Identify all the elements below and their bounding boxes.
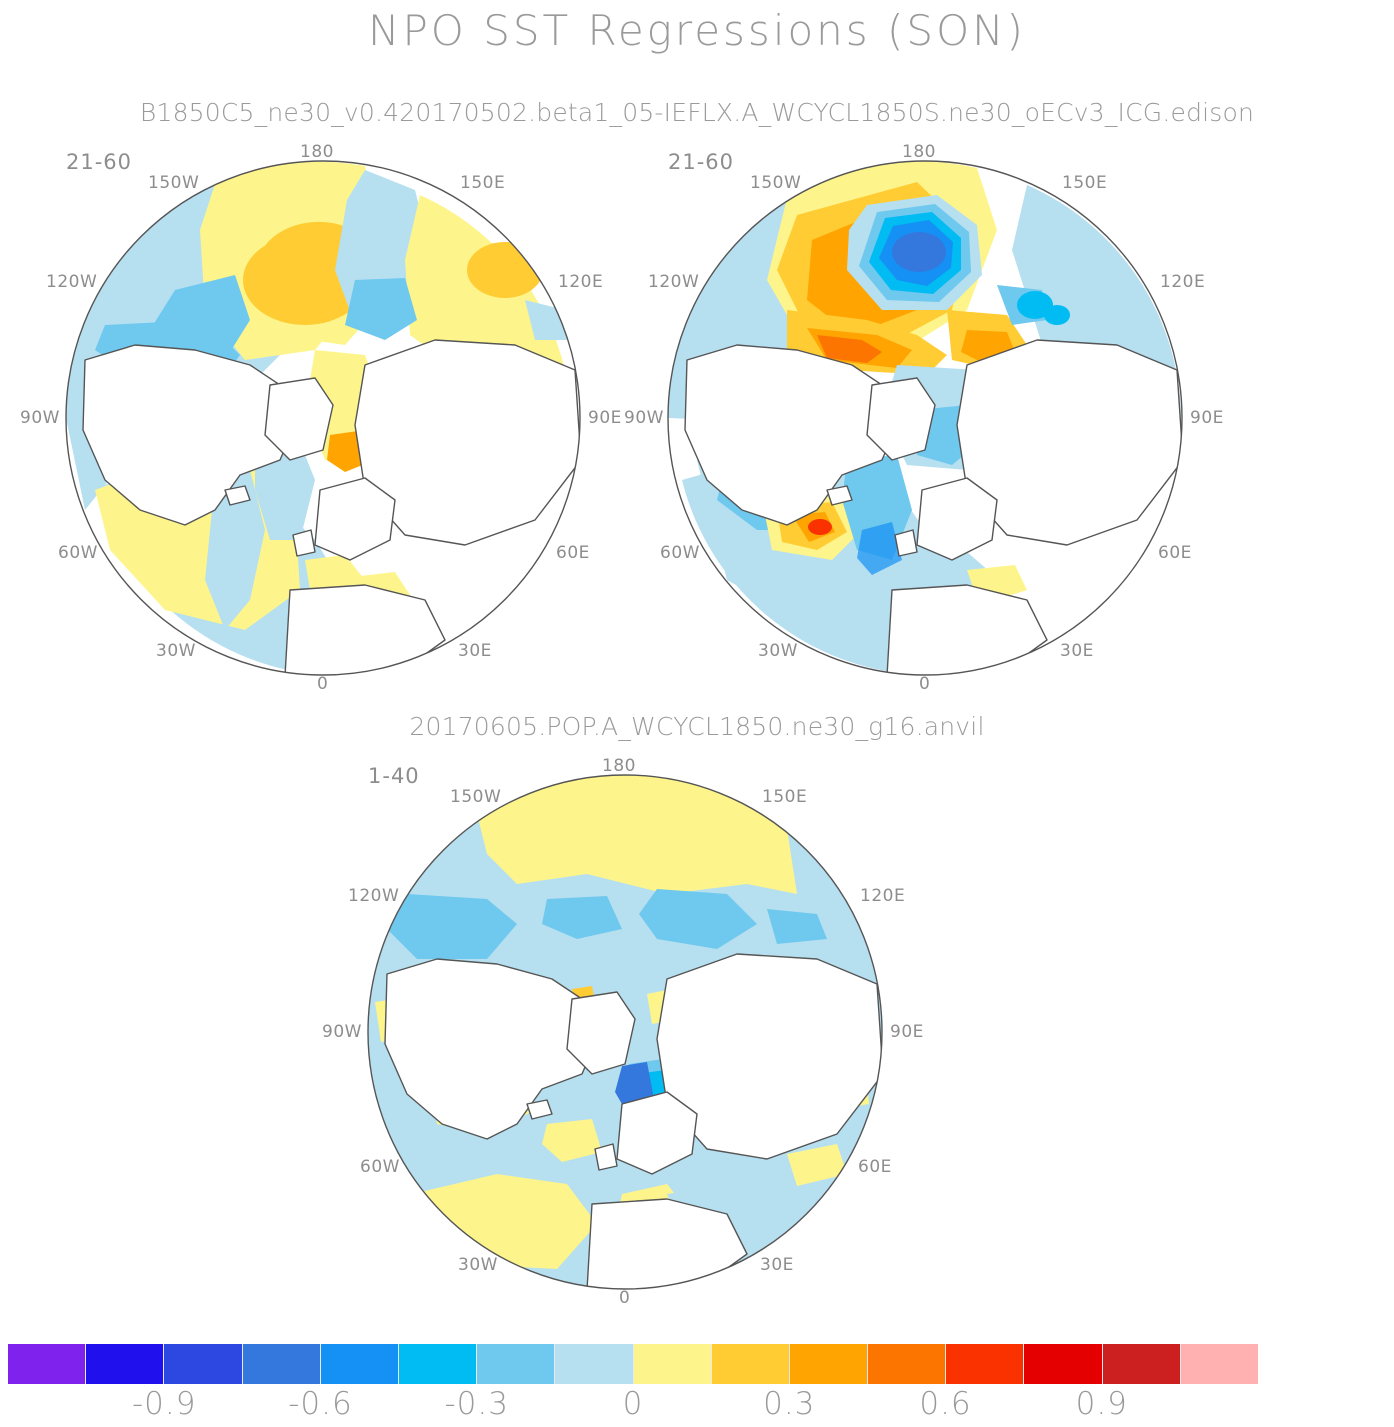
lon-label-150W-panel1: 150W <box>148 173 199 193</box>
lon-label-150W-panel2: 150W <box>750 173 801 193</box>
lon-label-90E-panel3: 90E <box>890 1022 924 1042</box>
lon-label-120W-panel1: 120W <box>46 272 97 292</box>
lon-label-180-panel3: 180 <box>602 756 636 776</box>
lon-label-90W-panel3: 90W <box>322 1022 362 1042</box>
colorbar-swatch-10 <box>790 1344 868 1384</box>
year-range-label-top-right: 21-60 <box>668 150 734 174</box>
colorbar-swatch-9 <box>712 1344 790 1384</box>
lon-label-120E-panel1: 120E <box>558 272 603 292</box>
lon-label-30E-panel1: 30E <box>458 641 492 661</box>
subtitle-top-row: B1850C5_ne30_v0.420170502.beta1_05-IEFLX… <box>0 98 1394 127</box>
year-range-label-top-left: 21-60 <box>66 150 132 174</box>
colorbar-swatch-13 <box>1024 1344 1102 1384</box>
polar-stereographic-plot-top-right <box>667 160 1183 676</box>
colorbar-swatch-14 <box>1103 1344 1181 1384</box>
colorbar-swatch-11 <box>868 1344 946 1384</box>
map-panel-top-left[interactable] <box>65 160 581 676</box>
lon-label-180-panel1: 180 <box>300 142 334 162</box>
polar-stereographic-plot-bottom <box>367 774 883 1290</box>
map-panel-bottom[interactable] <box>367 774 883 1290</box>
colorbar-swatch-8 <box>634 1344 712 1384</box>
colorbar-tick--0.9: -0.9 <box>132 1386 197 1422</box>
lon-label-60E-panel3: 60E <box>858 1157 892 1177</box>
year-range-label-bottom: 1-40 <box>368 764 420 788</box>
subtitle-bottom-row: 20170605.POP.A_WCYCL1850.ne30_g16.anvil <box>0 712 1394 741</box>
lon-label-0-panel2: 0 <box>919 674 930 694</box>
colorbar-swatch-3 <box>243 1344 321 1384</box>
lon-label-30E-panel2: 30E <box>1060 641 1094 661</box>
colorbar-swatch-7 <box>555 1344 633 1384</box>
lon-label-60W-panel2: 60W <box>660 543 700 563</box>
lon-label-90W-panel1: 90W <box>20 408 60 428</box>
lon-label-60W-panel1: 60W <box>58 543 98 563</box>
lon-label-0-panel1: 0 <box>317 674 328 694</box>
lon-label-180-panel2: 180 <box>902 142 936 162</box>
lon-label-150E-panel3: 150E <box>762 787 807 807</box>
lon-label-150W-panel3: 150W <box>450 787 501 807</box>
lon-label-0-panel3: 0 <box>619 1288 630 1308</box>
lon-label-90E-panel1: 90E <box>588 408 622 428</box>
colorbar-swatch-1 <box>86 1344 164 1384</box>
colorbar-swatch-6 <box>477 1344 555 1384</box>
lon-label-120W-panel3: 120W <box>348 886 399 906</box>
lon-label-30W-panel3: 30W <box>458 1255 498 1275</box>
lon-label-60E-panel1: 60E <box>556 543 590 563</box>
colorbar-tick-0.3: 0.3 <box>763 1386 815 1422</box>
lon-label-120E-panel2: 120E <box>1160 272 1205 292</box>
colorbar-swatch-4 <box>321 1344 399 1384</box>
colorbar-swatch-5 <box>399 1344 477 1384</box>
colorbar-tick--0.6: -0.6 <box>288 1386 353 1422</box>
colorbar-swatch-12 <box>946 1344 1024 1384</box>
lon-label-30W-panel1: 30W <box>156 641 196 661</box>
lon-label-120E-panel3: 120E <box>860 886 905 906</box>
lon-label-150E-panel2: 150E <box>1062 173 1107 193</box>
lon-label-30E-panel3: 30E <box>760 1255 794 1275</box>
colorbar[interactable] <box>8 1344 1258 1384</box>
colorbar-tick-labels: -0.9-0.6-0.300.30.60.9 <box>0 1386 1394 1426</box>
colorbar-tick-0.6: 0.6 <box>919 1386 971 1422</box>
colorbar-swatch-15 <box>1181 1344 1258 1384</box>
lon-label-60E-panel2: 60E <box>1158 543 1192 563</box>
colorbar-swatch-2 <box>164 1344 242 1384</box>
polar-stereographic-plot-top-left <box>65 160 581 676</box>
map-panel-top-right[interactable] <box>667 160 1183 676</box>
lon-label-150E-panel1: 150E <box>460 173 505 193</box>
lon-label-30W-panel2: 30W <box>758 641 798 661</box>
colorbar-tick--0.3: -0.3 <box>445 1386 510 1422</box>
colorbar-tick-0.9: 0.9 <box>1076 1386 1128 1422</box>
colorbar-swatch-0 <box>8 1344 86 1384</box>
lon-label-120W-panel2: 120W <box>648 272 699 292</box>
colorbar-tick-0: 0 <box>623 1386 644 1422</box>
lon-label-90W-panel2: 90W <box>624 408 664 428</box>
lon-label-60W-panel3: 60W <box>360 1157 400 1177</box>
lon-label-90E-panel2: 90E <box>1190 408 1224 428</box>
page-title: NPO SST Regressions (SON) <box>0 6 1394 55</box>
